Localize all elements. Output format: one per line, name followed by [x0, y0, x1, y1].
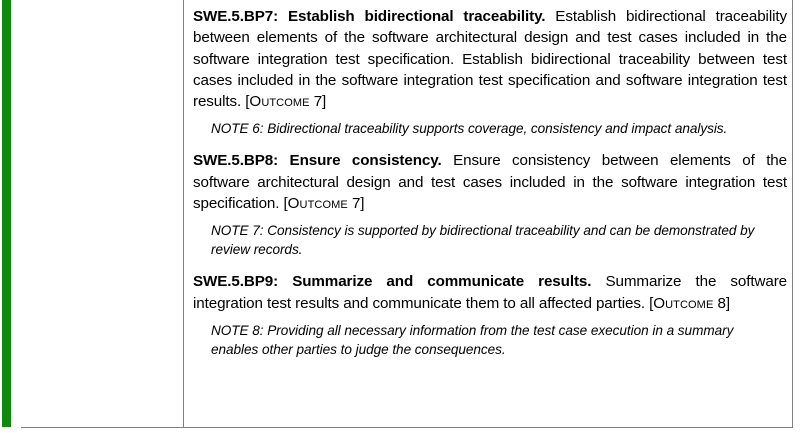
spacer-after-note-6 [193, 138, 787, 150]
table-content-cell: SWE.5.BP7: Establish bidirectional trace… [184, 0, 793, 428]
table-left-column-empty [22, 0, 183, 428]
spacer-after-note-7 [193, 259, 787, 271]
practice-bp7-outcome-label: Outcome [249, 93, 309, 110]
practice-bp9-note: NOTE 8: Providing all necessary informat… [211, 321, 787, 359]
practice-bp8: SWE.5.BP8: Ensure consistency. Ensure co… [193, 150, 787, 214]
practice-bp8-note: NOTE 7: Consistency is supported by bidi… [211, 221, 787, 259]
practice-bp7: SWE.5.BP7: Establish bidirectional trace… [193, 6, 787, 112]
practice-bp7-note: NOTE 6: Bidirectional traceability suppo… [211, 119, 787, 138]
practice-bp8-outcome-suffix: 7] [348, 195, 365, 212]
practice-bp7-outcome-suffix: 7] [310, 93, 327, 110]
practice-bp9-title: SWE.5.BP9: Summarize and communicate res… [193, 273, 591, 290]
revision-change-bar [2, 0, 11, 427]
practice-bp8-title: SWE.5.BP8: Ensure consistency. [193, 152, 442, 169]
practice-bp8-outcome-label: Outcome [288, 195, 348, 212]
practice-bp7-title: SWE.5.BP7: Establish bidirectional trace… [193, 8, 545, 25]
practice-bp9-outcome-label: Outcome [653, 295, 713, 312]
practice-bp9-outcome-suffix: 8] [713, 295, 730, 312]
document-page: SWE.5.BP7: Establish bidirectional trace… [0, 0, 800, 433]
practice-bp9: SWE.5.BP9: Summarize and communicate res… [193, 271, 787, 314]
